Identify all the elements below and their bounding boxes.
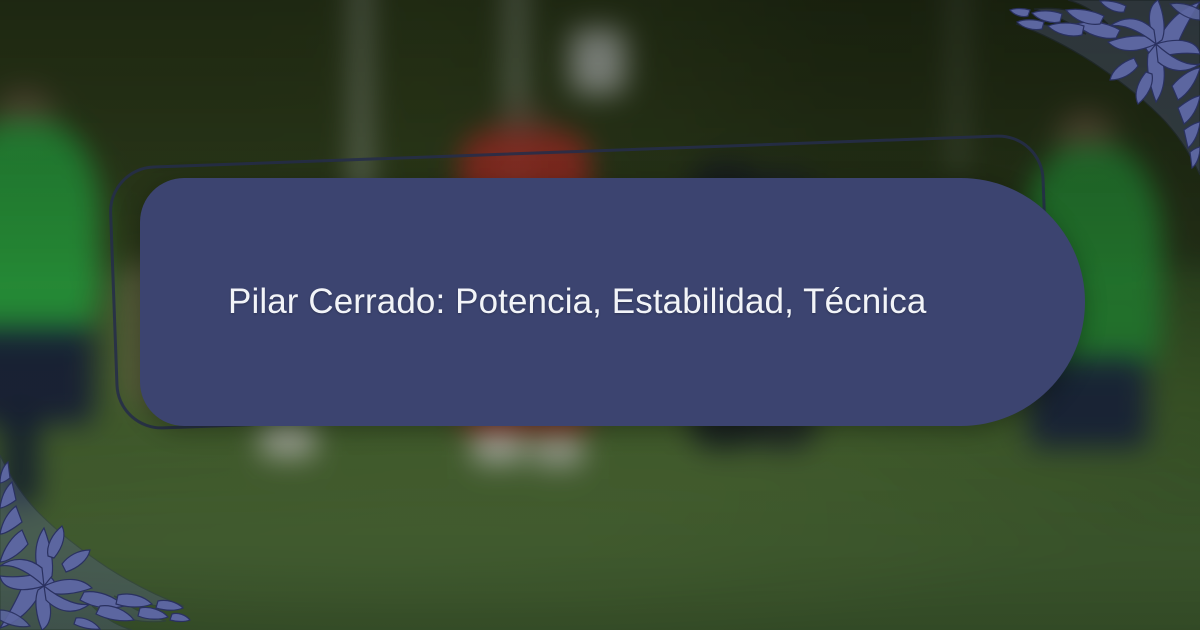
title-card: Pilar Cerrado: Potencia, Estabilidad, Té… bbox=[140, 178, 1085, 426]
social-card-banner: Pilar Cerrado: Potencia, Estabilidad, Té… bbox=[0, 0, 1200, 630]
page-title: Pilar Cerrado: Potencia, Estabilidad, Té… bbox=[140, 280, 998, 324]
